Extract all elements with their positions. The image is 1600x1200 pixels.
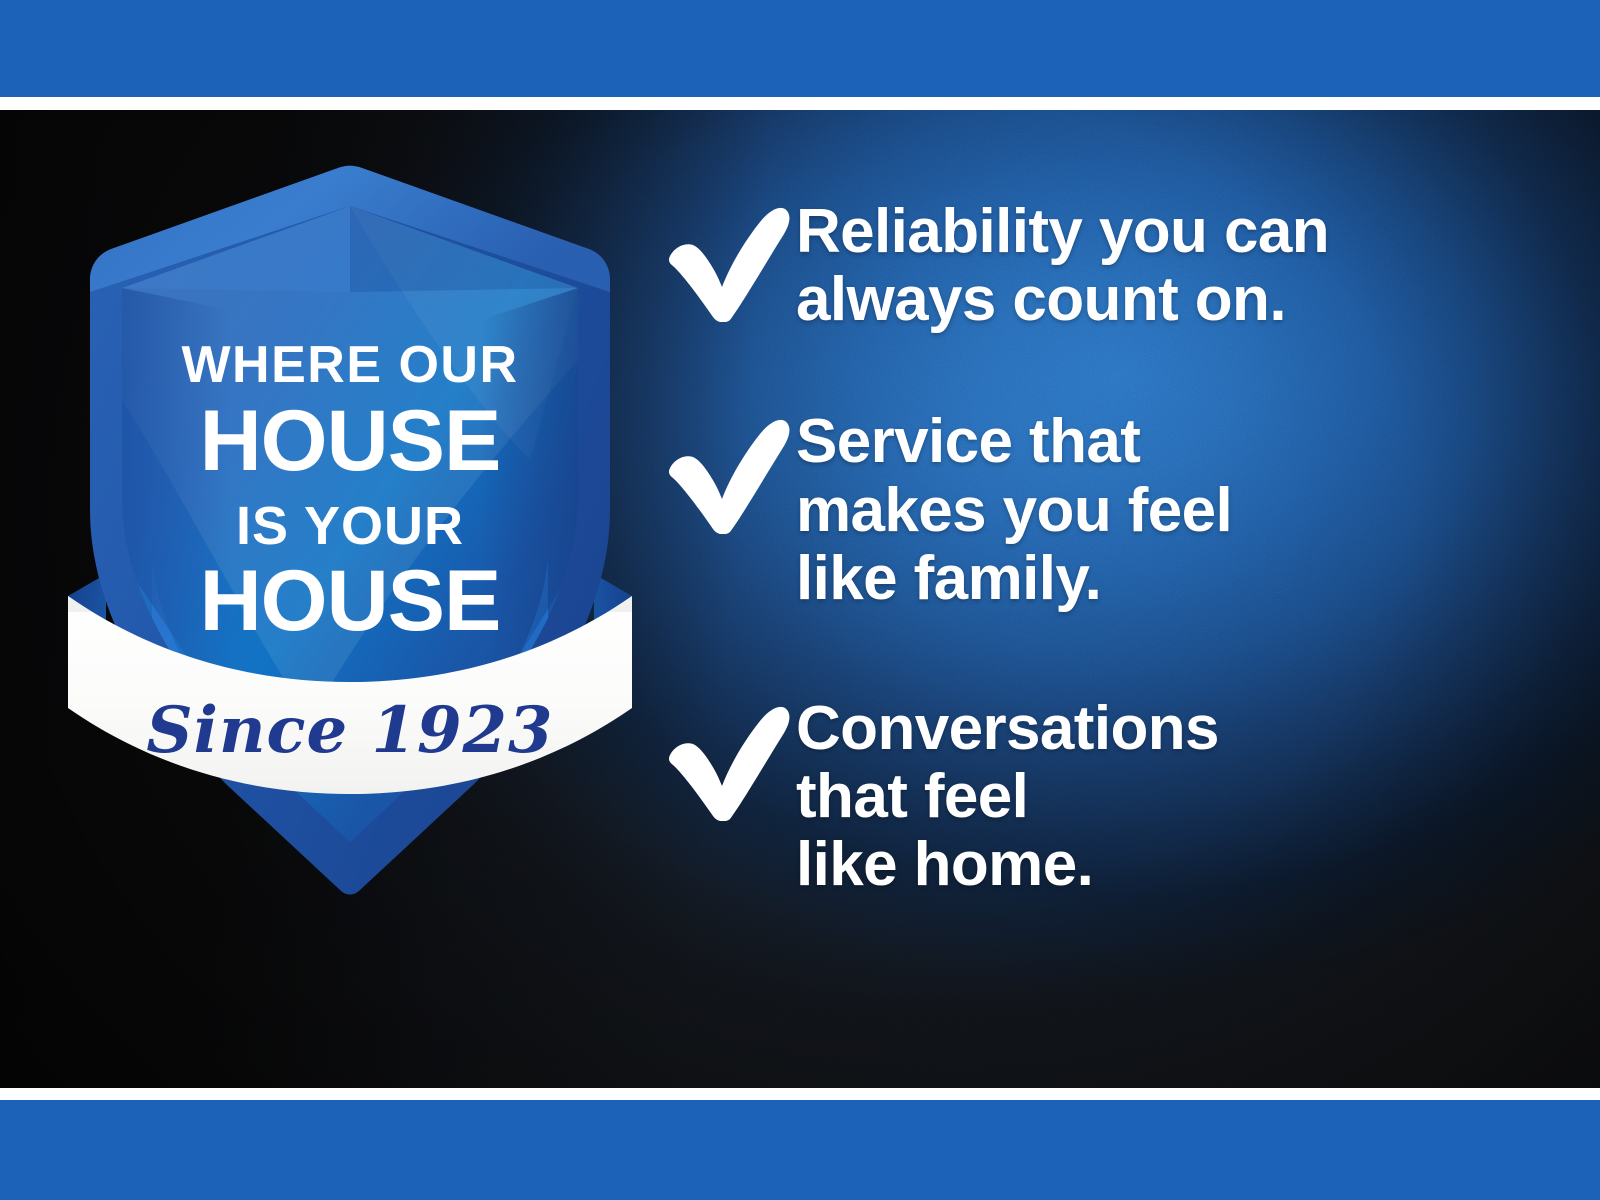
badge-line-4: HOUSE: [200, 553, 501, 649]
check-icon: [664, 703, 796, 821]
ribbon-script-text: Since 1923: [146, 693, 553, 768]
check-icon: [664, 204, 796, 322]
top-brand-bar: [0, 0, 1600, 97]
benefit-item-service: Service that makes you feel like family.: [664, 408, 1544, 613]
benefits-list: Reliability you can always count on. Ser…: [664, 196, 1544, 900]
bottom-brand-bar: [0, 1100, 1600, 1200]
check-icon: [664, 416, 796, 534]
promo-graphic: WHERE OUR HOUSE IS YOUR HOUSE Since 1923…: [0, 0, 1600, 1200]
badge-line-1: WHERE OUR: [181, 336, 518, 394]
badge-line-2: HOUSE: [200, 393, 501, 489]
shield-badge: WHERE OUR HOUSE IS YOUR HOUSE Since 1923: [60, 160, 640, 960]
badge-line-3: IS YOUR: [236, 496, 464, 556]
benefit-item-reliability: Reliability you can always count on.: [664, 196, 1544, 334]
benefit-text: Conversations that feel like home.: [796, 695, 1544, 900]
benefit-item-conversations: Conversations that feel like home.: [664, 695, 1544, 900]
benefit-text: Service that makes you feel like family.: [796, 408, 1544, 613]
benefit-text: Reliability you can always count on.: [796, 196, 1544, 334]
